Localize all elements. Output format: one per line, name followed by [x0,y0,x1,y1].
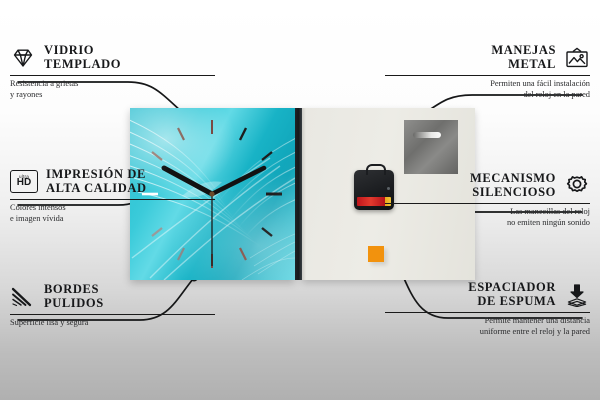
polished-edges-icon [10,285,36,309]
feature-title: IMPRESIÓN DE ALTA CALIDAD [46,168,147,195]
picture-frame-hanger-icon [564,46,590,70]
feature-description: Permite mantener una distancia uniforme … [385,316,590,337]
foam-spacer-arrow-icon [564,283,590,307]
feature-description: Colores intensos e imagen vívida [10,203,215,224]
feature-heading: MANEJAS METAL [385,44,590,71]
feature-heading: BORDES PULIDOS [10,283,215,310]
feature-title: MECANISMO SILENCIOSO [470,172,556,199]
feature-description: Resistencia a grietas y rayones [10,79,215,100]
gear-icon [564,174,590,198]
feature-heading: VIDRIO TEMPLADO [10,44,215,71]
diamond-icon [10,46,36,70]
metal-hanger-plate [404,120,458,174]
feature-heading: ultra HD IMPRESIÓN DE ALTA CALIDAD [10,168,215,195]
hanger-slot [413,132,441,138]
feature-espaciador-espuma: ESPACIADOR DE ESPUMA Permite mantener un… [385,281,590,337]
feature-divider [385,203,590,204]
feature-description: Permiten una fácil instalación del reloj… [385,79,590,100]
infographic-canvas: VIDRIO TEMPLADO Resistencia a grietas y … [0,0,600,400]
feature-title: ESPACIADOR DE ESPUMA [468,281,556,308]
feature-divider [10,314,215,315]
feature-heading: MECANISMO SILENCIOSO [385,172,590,199]
feature-divider [10,75,215,76]
feature-manejas-metal: MANEJAS METAL Permiten una fácil instala… [385,44,590,100]
ultra-hd-icon: ultra HD [10,170,38,193]
orange-foam-spacer [368,246,384,262]
feature-impresion-alta-calidad: ultra HD IMPRESIÓN DE ALTA CALIDAD Color… [10,168,215,224]
feature-mecanismo-silencioso: MECANISMO SILENCIOSO Las manecillas del … [385,172,590,228]
feature-title: BORDES PULIDOS [44,283,104,310]
feature-description: Superficie lisa y segura [10,318,215,329]
feature-heading: ESPACIADOR DE ESPUMA [385,281,590,308]
feature-title: MANEJAS METAL [491,44,556,71]
feature-title: VIDRIO TEMPLADO [44,44,121,71]
feature-divider [10,199,215,200]
feature-divider [385,312,590,313]
feature-vidrio-templado: VIDRIO TEMPLADO Resistencia a grietas y … [10,44,215,100]
feature-divider [385,75,590,76]
feature-description: Las manecillas del reloj no emiten ningú… [385,207,590,228]
mechanism-hanging-loop [366,164,386,175]
feature-bordes-pulidos: BORDES PULIDOS Superficie lisa y segura [10,283,215,329]
